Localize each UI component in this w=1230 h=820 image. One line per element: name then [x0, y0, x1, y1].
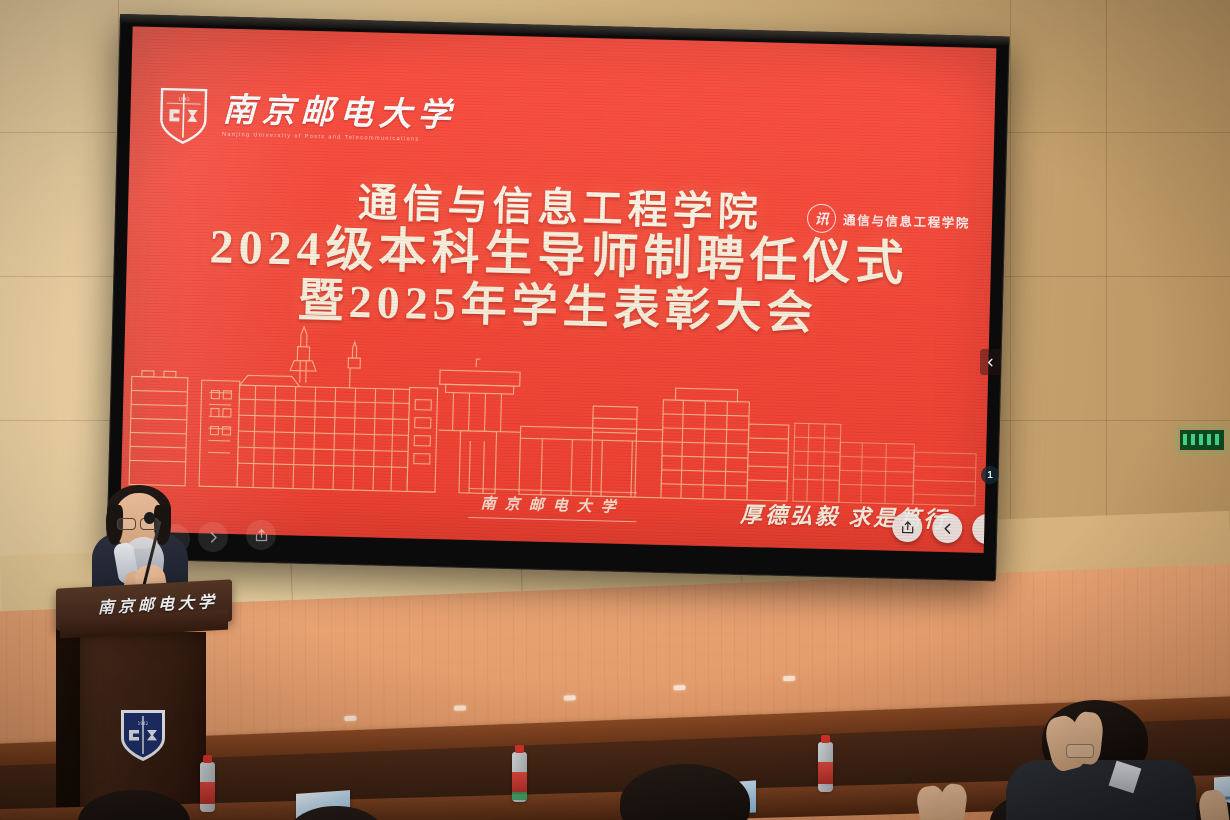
svg-text:1942: 1942: [178, 96, 190, 102]
njupt-shield-icon: 1942: [118, 704, 168, 764]
event-title: 通信与信息工程学院 2024级本科生导师制聘任仪式 暨2025年学生表彰大会: [125, 176, 992, 341]
emergency-exit-sign-icon: [1178, 428, 1226, 452]
chevron-left-icon: [985, 357, 996, 368]
audience-torso: [1006, 760, 1196, 820]
university-lockup: 1942 南京邮电大学 Nanjing University of Posts …: [158, 85, 457, 153]
glasses-icon: [117, 518, 136, 530]
prev-button[interactable]: [932, 513, 963, 544]
water-bottle: [512, 752, 527, 802]
chevron-right-icon: [980, 521, 995, 536]
glasses-icon: [1066, 744, 1094, 758]
campus-line-art: [121, 320, 989, 517]
page-badge[interactable]: 1: [981, 466, 999, 484]
share-icon: [254, 528, 269, 543]
next-button[interactable]: [972, 514, 997, 545]
chevron-right-icon: [206, 530, 221, 545]
water-bottle: [818, 742, 833, 792]
university-name-cn: 南京邮电大学: [222, 95, 457, 134]
microphone-icon: [144, 512, 155, 524]
university-name-en: Nanjing University of Posts and Telecomm…: [222, 133, 456, 144]
auditorium-scene: 1942 南京邮电大学 Nanjing University of Posts …: [0, 0, 1230, 820]
water-bottle: [200, 762, 215, 812]
led-screen: 1942 南京邮电大学 Nanjing University of Posts …: [120, 26, 997, 553]
share-icon: [900, 519, 915, 534]
shield-crest-icon: 1942: [158, 85, 210, 146]
ghost-share-button[interactable]: [246, 520, 276, 550]
led-screen-bezel: 1942 南京邮电大学 Nanjing University of Posts …: [106, 14, 1010, 581]
share-button[interactable]: [892, 512, 923, 543]
campus-artwork-caption: 南京邮电大学: [468, 488, 637, 522]
panel-collapse-tab[interactable]: [980, 349, 1001, 375]
svg-text:1942: 1942: [138, 721, 149, 726]
chevron-left-icon: [940, 520, 955, 535]
